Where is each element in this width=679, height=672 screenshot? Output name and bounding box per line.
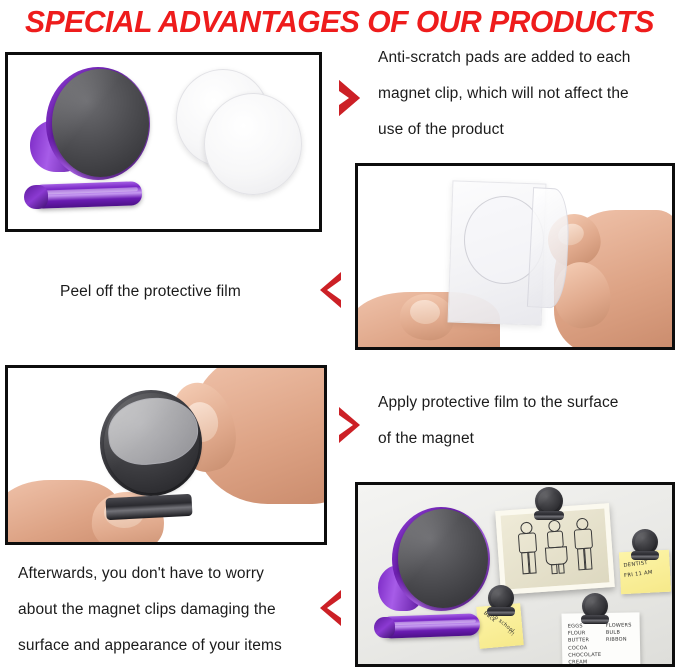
step-3-text: Apply protective film to the surface of … [378,385,678,457]
magnet-disc-icon-2 [398,509,488,608]
photo-figure-3 [571,517,595,570]
step-3-image-panel [5,365,327,545]
black-disc-school [491,588,511,608]
black-clip-list [580,593,612,631]
black-handle-school [487,607,515,616]
step-4-text: Afterwards, you don't have to worry abou… [18,556,318,664]
step-1-image-panel [5,52,322,232]
step-1-line-1: Anti-scratch pads are added to each [378,40,678,76]
chevron-right-icon-1 [336,78,370,118]
purple-magnet-clip [18,63,178,228]
black-handle-dentist [631,551,659,560]
clip-handle-icon [32,181,143,209]
step-4-line-1: Afterwards, you don't have to worry [18,556,318,592]
step-3-line-2: of the magnet [378,421,678,457]
infographic-root: SPECIAL ADVANTAGES OF OUR PRODUCTS Anti-… [0,0,679,672]
list-item: RIBBON [606,637,632,645]
step-4-line-2: about the magnet clips damaging the [18,592,318,628]
note-dentist-line-2: FRI 11 AM [624,570,653,580]
clip-knuckle-icon-2 [374,617,395,638]
fridge-board-scene: Back to school !!! DENTIST FRI 11 AM [358,485,672,664]
black-handle-list [581,615,609,624]
black-clip-dentist-note [630,529,662,567]
black-disc-list [585,596,605,616]
black-clip-photo [533,487,567,525]
step-1-line-2: magnet clip, which will not affect the [378,76,678,112]
step-2-image-panel [355,163,675,350]
black-clip-handle-icon [105,494,192,520]
chevron-left-icon-2 [310,270,344,310]
product-scene-peeling-film [358,166,672,347]
black-disc-dentist [635,532,655,552]
step-1-line-3: use of the product [378,112,678,148]
step-4-line-3: surface and appearance of your items [18,628,318,664]
step-1-text: Anti-scratch pads are added to each magn… [378,40,678,148]
magnet-disc-icon [52,69,149,177]
photo-figure-1 [515,521,539,574]
product-scene-clip-and-pads [8,55,319,229]
product-scene-apply-film [8,368,324,542]
step-2-line-1: Peel off the protective film [60,274,310,310]
step-4-image-panel: Back to school !!! DENTIST FRI 11 AM [355,482,675,667]
page-title: SPECIAL ADVANTAGES OF OUR PRODUCTS [10,0,669,44]
step-2-text: Peel off the protective film [60,274,310,310]
black-clip-school-note [486,585,518,621]
list-item: BREAD [568,666,601,667]
list-item: CREAM [568,659,601,667]
photo-figure-2 [543,519,567,572]
black-disc-photo [538,490,560,512]
anti-scratch-pad-front [204,93,302,195]
step-3-line-1: Apply protective film to the surface [378,385,678,421]
chevron-right-icon-3 [336,405,370,445]
clip-knuckle-icon [24,185,48,209]
black-handle-photo [534,511,564,520]
